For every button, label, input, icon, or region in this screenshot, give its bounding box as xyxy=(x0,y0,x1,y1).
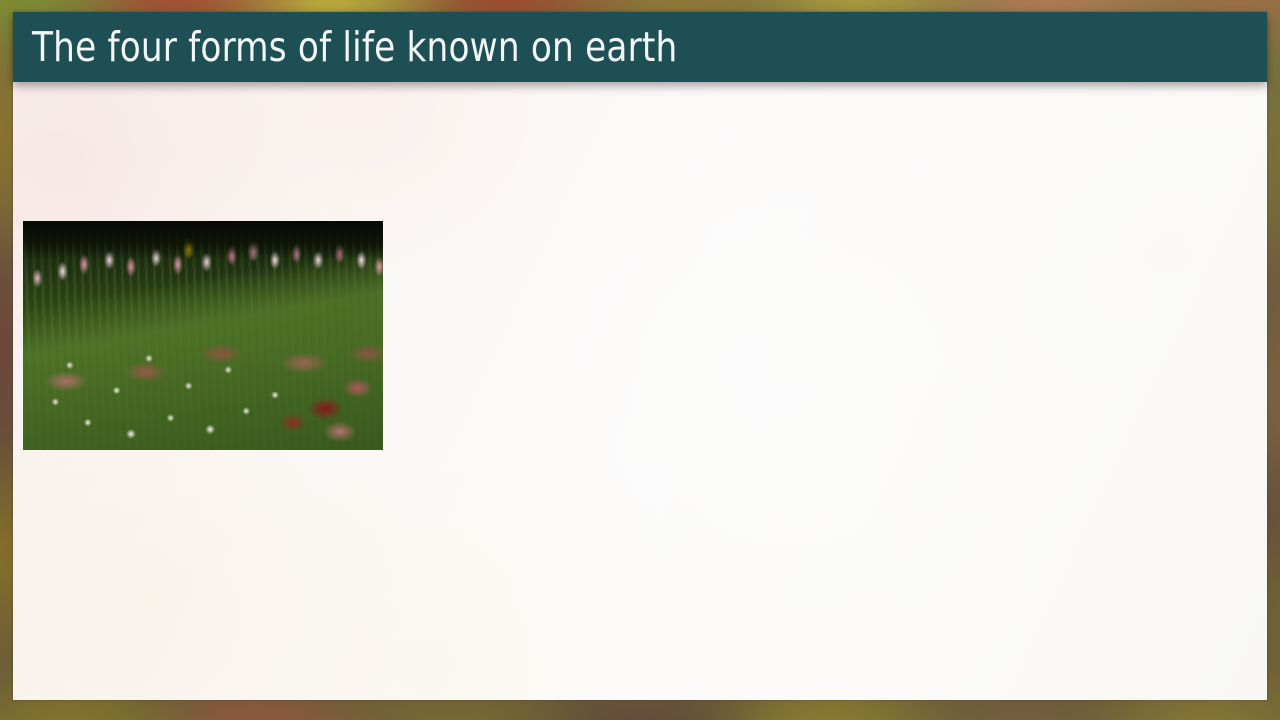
photo-treeline-shadow xyxy=(23,221,383,259)
slide-title: The four forms of life known on earth xyxy=(32,27,677,68)
slide-title-bar: The four forms of life known on earth xyxy=(13,12,1267,82)
presentation-slide: The four forms of life known on earth xyxy=(0,0,1280,720)
flower-field-photo xyxy=(23,221,383,450)
